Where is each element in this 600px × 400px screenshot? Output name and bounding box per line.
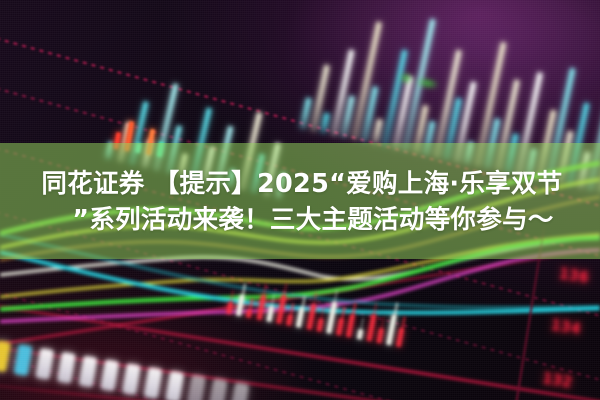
candle-body bbox=[366, 314, 376, 342]
candle-body-silver bbox=[35, 348, 54, 380]
candle-body bbox=[296, 307, 305, 328]
candle-body-silver bbox=[144, 367, 163, 399]
price-axis-label: 136 bbox=[558, 264, 591, 286]
volume-bar bbox=[331, 50, 354, 136]
headline-line-2: ”系列活动来袭！三大主题活动等你参与～ bbox=[46, 203, 553, 237]
candle-body bbox=[396, 328, 405, 348]
candle-body bbox=[346, 314, 355, 337]
candle-body-silver bbox=[209, 378, 228, 400]
candle-body-silver bbox=[14, 344, 33, 376]
candle-body bbox=[266, 306, 274, 322]
candle-body bbox=[326, 301, 337, 334]
candle-body-silver bbox=[122, 363, 141, 395]
price-axis-label: 132 bbox=[542, 369, 575, 391]
candle-body bbox=[236, 294, 245, 316]
candle-body-silver bbox=[230, 382, 249, 400]
candle-body-silver bbox=[100, 359, 119, 391]
candle-body-silver bbox=[0, 340, 11, 372]
volume-bar bbox=[372, 119, 382, 145]
candle-body bbox=[386, 314, 397, 345]
candle-body bbox=[316, 318, 323, 332]
screenshot-root: 136 134 132 同花证券 【提示】2025“爱购上海·乐享双节 ”系列活… bbox=[0, 0, 600, 400]
candle-body bbox=[336, 318, 344, 336]
headline-line-1: 同花证券 【提示】2025“爱购上海·乐享双节 bbox=[37, 167, 562, 201]
headline-text-group: 同花证券 【提示】2025“爱购上海·乐享双节 ”系列活动来袭！三大主题活动等你… bbox=[0, 143, 600, 259]
candle-body bbox=[356, 329, 363, 339]
candle-body bbox=[226, 301, 233, 314]
volume-bar bbox=[321, 113, 330, 133]
candle-body bbox=[376, 328, 384, 344]
candle-body bbox=[276, 295, 286, 325]
candle-body bbox=[306, 304, 316, 330]
candle-body-silver bbox=[187, 375, 206, 400]
candle-body bbox=[256, 295, 266, 320]
candle-body bbox=[246, 309, 253, 318]
candle-body-silver bbox=[165, 371, 184, 400]
candle-body-silver bbox=[79, 356, 98, 388]
price-axis-label: 134 bbox=[550, 316, 583, 338]
candle-body-silver bbox=[57, 352, 76, 384]
candle-body bbox=[286, 315, 293, 326]
